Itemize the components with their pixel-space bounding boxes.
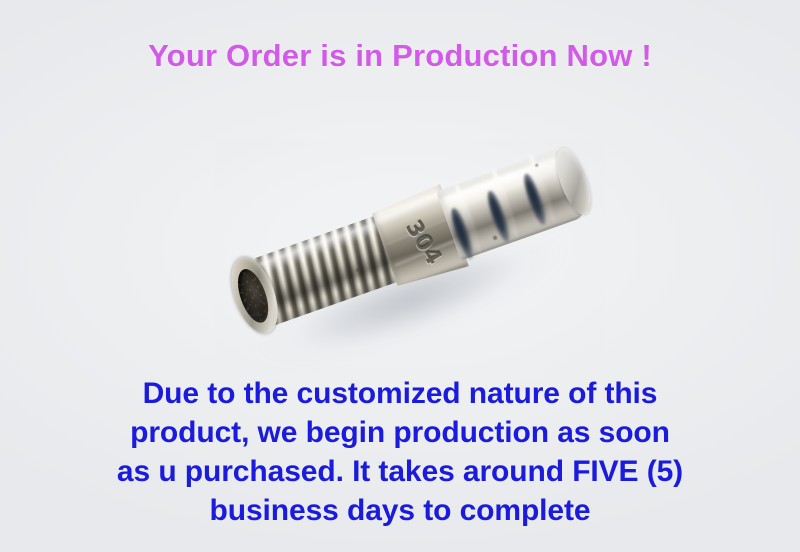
notice-body-text: Due to the customized nature of this pro… (0, 374, 800, 530)
notice-line: business days to complete (0, 491, 800, 530)
notice-line: Due to the customized nature of this (0, 374, 800, 413)
product-photo: 304 (215, 140, 605, 375)
notice-line: as u purchased. It takes around FIVE (5) (0, 452, 800, 491)
promotional-notice-image: Your Order is in Production Now ! 304 (0, 0, 800, 552)
page-title: Your Order is in Production Now ! (0, 38, 800, 74)
notice-line: product, we begin production as soon (0, 413, 800, 452)
